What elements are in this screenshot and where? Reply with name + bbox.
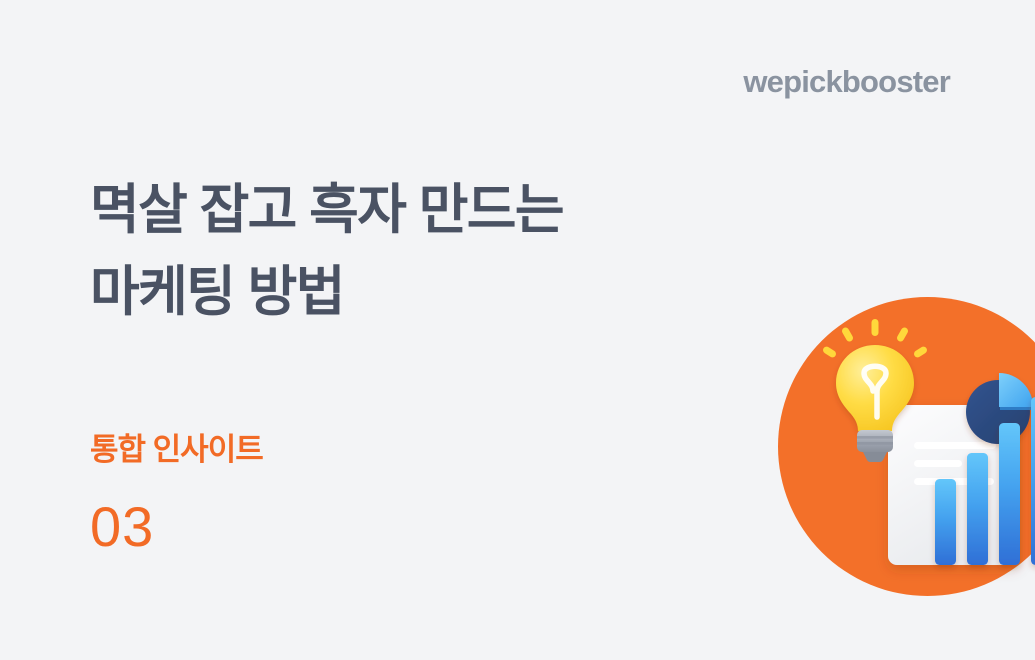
brand-logo: wepickbooster xyxy=(743,66,950,97)
headline-line-2: 마케팅 방법 xyxy=(90,251,563,333)
slide-card: wepickbooster 멱살 잡고 흑자 만드는 마케팅 방법 통합 인사이… xyxy=(0,0,1035,660)
insight-report-illustration xyxy=(778,297,1035,596)
headline-line-1: 멱살 잡고 흑자 만드는 xyxy=(90,169,563,251)
series-number: 03 xyxy=(90,499,154,555)
page-title: 멱살 잡고 흑자 만드는 마케팅 방법 xyxy=(90,169,563,333)
series-label: 통합 인사이트 xyxy=(90,434,263,465)
